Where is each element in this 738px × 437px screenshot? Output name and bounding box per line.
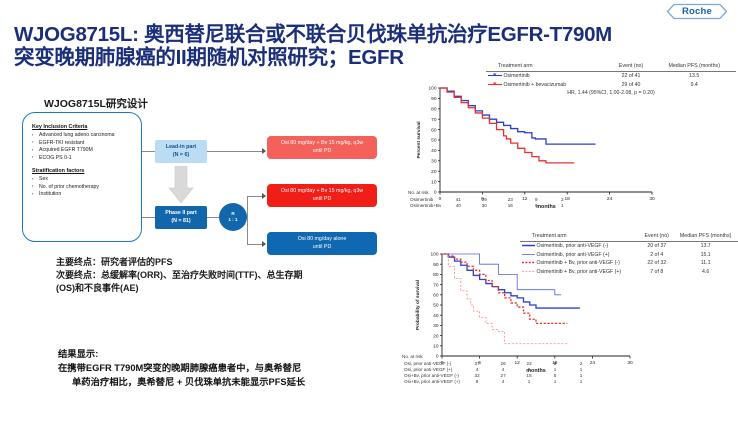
- svg-text:Probability of survival: Probability of survival: [415, 280, 421, 330]
- secondary-endpoint-line2: (OS)和不良事件(AE): [56, 282, 406, 295]
- legend-median-combination: 9.4: [652, 80, 736, 89]
- connector-phase2-to-rand: [207, 217, 219, 218]
- svg-text:90: 90: [433, 262, 439, 268]
- endpoints-text: 主要终点：研究者评估的PFS 次要终点：总缓解率(ORR)、至治疗失败时间(TT…: [56, 256, 406, 294]
- lead-in-label: Lead-in part: [166, 144, 196, 152]
- stratification-list: Sex No. of prior chemotherapy Institutio…: [32, 176, 135, 199]
- arm-c-line2: until PD: [313, 244, 332, 252]
- results-heading: 结果显示:: [58, 348, 414, 362]
- legend-median: 13.7: [673, 242, 738, 251]
- svg-text:40: 40: [431, 148, 437, 154]
- arm-b-line1: Osi 80 mg/day + Bv 15 mg/kg, q3w: [281, 188, 363, 196]
- arrowhead-arma: [262, 148, 266, 154]
- inclusion-criteria-heading: Key Inclusion Criteria: [32, 124, 135, 130]
- list-item: Sex: [32, 176, 135, 184]
- svg-text:100: 100: [428, 86, 436, 92]
- svg-text:30: 30: [431, 159, 437, 165]
- chart-bottom-risk-table: No. at risk Osi, prior anti-VEGF (-)3726…: [402, 354, 594, 385]
- table-row: Osimertinib 22 of 41 13.5: [486, 72, 736, 81]
- phase2-part-box: Phase II part (N = 81): [155, 206, 207, 229]
- svg-text:24: 24: [607, 196, 613, 202]
- chart-top-risk-table: No. at risk Osimertinib41292392Osimertin…: [408, 190, 575, 209]
- svg-text:90: 90: [431, 96, 437, 102]
- phase2-label: Phase II part: [165, 210, 197, 218]
- legend-header-arm: Treatment arm: [486, 62, 610, 71]
- legend-header-event: Event (no): [610, 62, 653, 71]
- table-row: Osimertinib, prior anti-VEGF (-)20 of 37…: [520, 242, 738, 251]
- legend-event: 20 of 37: [640, 242, 673, 251]
- svg-text:20: 20: [433, 333, 439, 339]
- legend-event: 22 of 32: [640, 259, 673, 268]
- lead-in-n: (N = 6): [173, 152, 189, 160]
- svg-text:30: 30: [649, 196, 655, 202]
- chart-pfs-subgroups: Treatment arm Event (no) Median PFS (mon…: [402, 232, 738, 432]
- title-line-1: WJOG8715L: 奥西替尼联合或不联合贝伐珠单抗治疗EGFR-T790M: [14, 24, 730, 47]
- arm-a-line2: until PD: [313, 148, 332, 156]
- phase-transition-arrow-icon: [168, 166, 194, 204]
- list-item: Advanced lung adeno carcinoma: [32, 132, 135, 140]
- svg-text:10: 10: [431, 179, 437, 185]
- svg-text:10: 10: [433, 344, 439, 350]
- legend-swatch-osimertinib-icon: [488, 73, 502, 78]
- connector-rand-up: [247, 196, 248, 217]
- inclusion-criteria-list: Advanced lung adeno carcinoma EGFR-TKI r…: [32, 132, 135, 162]
- svg-text:30: 30: [433, 323, 439, 329]
- randomization-circle: R 1 : 1: [219, 203, 247, 231]
- legend-header-median: Median PFS (months): [673, 232, 738, 241]
- svg-text:70: 70: [433, 282, 439, 288]
- phase2-n: (N = 81): [171, 218, 190, 226]
- svg-text:80: 80: [431, 107, 437, 113]
- roche-logo: Roche: [666, 3, 728, 20]
- results-text: 结果显示: 在携带EGFR T790M突变的晚期肺腺癌患者中，与奥希替尼 单药治…: [58, 348, 414, 390]
- stratification-heading: Stratification factors: [32, 168, 135, 174]
- svg-text:Percent survival: Percent survival: [416, 121, 422, 158]
- svg-text:20: 20: [431, 169, 437, 175]
- legend-median: 11.1: [673, 259, 738, 268]
- legend-label: Osimertinib, prior anti-VEGF (-): [536, 243, 608, 249]
- svg-text:30: 30: [627, 360, 633, 366]
- primary-endpoint: 主要终点：研究者评估的PFS: [56, 256, 406, 269]
- svg-text:60: 60: [431, 127, 437, 133]
- svg-text:60: 60: [433, 293, 439, 299]
- arrowhead-armb: [262, 193, 266, 199]
- legend-event-osimertinib: 22 of 41: [610, 72, 653, 81]
- roche-wordmark: Roche: [682, 6, 712, 17]
- list-item: Institution: [32, 191, 135, 199]
- svg-text:100: 100: [430, 252, 438, 258]
- legend-median-osimertinib: 13.5: [652, 72, 736, 81]
- svg-text:70: 70: [431, 117, 437, 123]
- legend-median: 4.6: [673, 267, 738, 276]
- svg-text:40: 40: [433, 313, 439, 319]
- arm-a-line1: Osi 80 mg/day + Bv 15 mg/kg, q3w: [281, 140, 363, 148]
- inclusion-criteria-box: Key Inclusion Criteria Advanced lung ade…: [22, 112, 142, 242]
- legend-median: 15.1: [673, 250, 738, 259]
- legend-header-median: Median PFS (months): [652, 62, 736, 71]
- connector-box-to-phase2: [142, 217, 155, 218]
- legend-swatch-icon: [522, 243, 535, 248]
- results-line1: 在携带EGFR T790M突变的晚期肺腺癌患者中，与奥希替尼: [58, 362, 414, 376]
- legend-header-event: Event (no): [640, 232, 673, 241]
- treatment-arm-leadin-box: Osi 80 mg/day + Bv 15 mg/kg, q3w until P…: [267, 136, 377, 159]
- legend-event: 2 of 4: [640, 250, 673, 259]
- brand-band: Roche: [0, 0, 738, 22]
- arm-c-line1: Osi 80 mg/day alone: [298, 236, 347, 244]
- legend-event: 7 of 8: [640, 267, 673, 276]
- list-item: Acquired EGFR T790M: [32, 147, 135, 155]
- treatment-arm-monotherapy-box: Osi 80 mg/day alone until PD: [267, 232, 377, 255]
- table-row: Osimertinib+Bv40301661: [408, 202, 575, 208]
- randomization-ratio: 1 : 1: [228, 217, 237, 223]
- list-item: No. of prior chemotherapy: [32, 184, 135, 192]
- table-row: Osi+Bv, prior anti-VEGF (+)84111: [402, 379, 594, 385]
- results-line2: 单药治疗相比，奥希替尼 + 贝伐珠单抗未能显示PFS延长: [58, 376, 414, 390]
- connector-box-to-leadin: [142, 151, 155, 152]
- connector-rand-down: [247, 217, 248, 244]
- study-design-heading: WJOG8715L研究设计: [44, 96, 148, 111]
- list-item: ECOG PS 0-1: [32, 155, 135, 163]
- arm-b-line2: until PD: [313, 196, 332, 204]
- treatment-arm-combination-box: Osi 80 mg/day + Bv 15 mg/kg, q3w until P…: [267, 184, 377, 207]
- lead-in-part-box: Lead-in part (N = 6): [155, 140, 207, 163]
- svg-text:50: 50: [431, 138, 437, 144]
- secondary-endpoint-line1: 次要终点：总缓解率(ORR)、至治疗失败时间(TTF)、总生存期: [56, 269, 406, 282]
- connector-leadin-to-arma: [207, 151, 264, 152]
- chart-pfs-overall: Treatment arm Event (no) Median PFS (mon…: [408, 62, 738, 234]
- svg-text:80: 80: [433, 272, 439, 278]
- legend-label-osimertinib: Osimertinib: [503, 73, 529, 79]
- arrowhead-armc: [262, 241, 266, 247]
- svg-text:50: 50: [433, 303, 439, 309]
- legend-header-arm: Treatment arm: [520, 232, 640, 241]
- list-item: EGFR-TKI resistant: [32, 140, 135, 148]
